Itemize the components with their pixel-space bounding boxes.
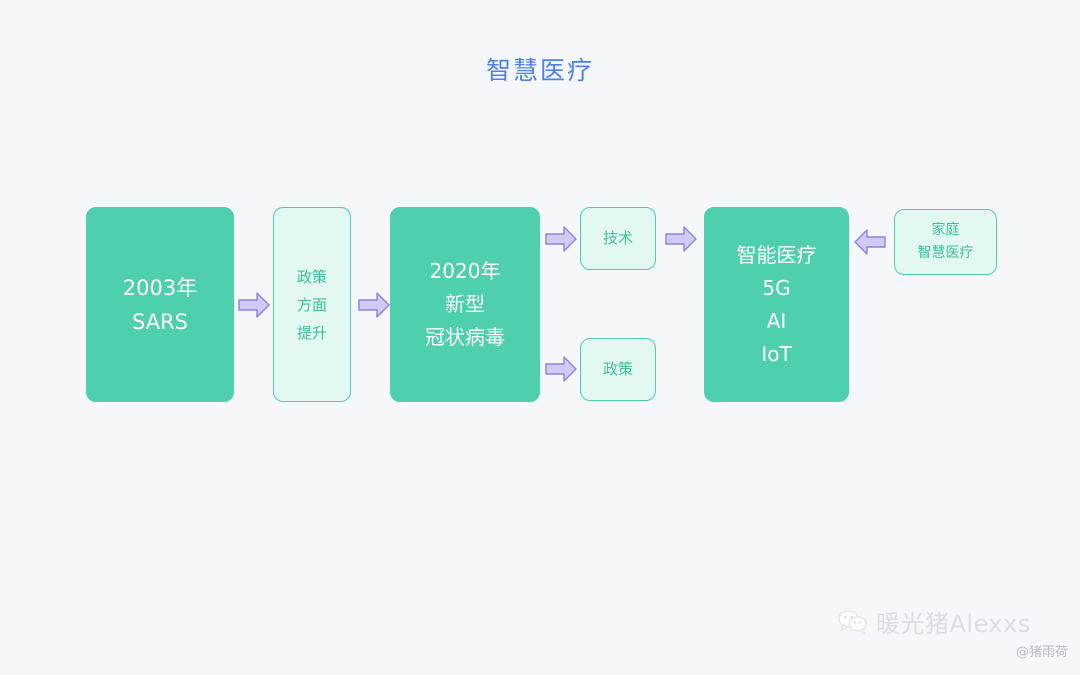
node-home-smart-medical-line-2: 智慧医疗	[918, 242, 974, 265]
node-smart-medical-line-3: AI	[767, 305, 787, 338]
node-smart-medical[interactable]: 智能医疗 5G AI IoT	[704, 207, 849, 402]
node-technology-label: 技术	[603, 228, 633, 249]
node-policy-improvement[interactable]: 政策 方面 提升	[273, 207, 351, 402]
node-smart-medical-line-4: IoT	[761, 338, 791, 371]
node-policy-improvement-line-3: 提升	[297, 319, 327, 347]
arrow-right-icon	[544, 355, 578, 383]
arrow-right-icon	[237, 291, 271, 319]
node-covid[interactable]: 2020年 新型 冠状病毒	[390, 207, 540, 402]
watermark-name: 暖光猪Alexxs	[876, 604, 1031, 639]
slide-canvas: 智慧医疗 2003年 SARS 政策 方面 提升 2020年 新型 冠状病毒 技…	[0, 0, 1080, 675]
arrow-left-icon	[853, 228, 887, 256]
node-smart-medical-line-2: 5G	[762, 272, 790, 305]
node-covid-line-2: 新型	[445, 288, 485, 321]
node-home-smart-medical-line-1: 家庭	[932, 219, 960, 242]
node-technology[interactable]: 技术	[580, 207, 656, 270]
arrow-right-icon	[664, 225, 698, 253]
node-policy-improvement-line-1: 政策	[297, 263, 327, 291]
page-title: 智慧医疗	[0, 54, 1080, 88]
wechat-icon	[838, 609, 868, 635]
node-policy[interactable]: 政策	[580, 338, 656, 401]
node-sars-line-2: SARS	[132, 305, 188, 339]
arrow-right-icon	[544, 225, 578, 253]
node-policy-improvement-line-2: 方面	[297, 291, 327, 319]
node-sars[interactable]: 2003年 SARS	[86, 207, 234, 402]
watermark: 暖光猪Alexxs @猪雨荷	[838, 604, 1068, 666]
node-home-smart-medical[interactable]: 家庭 智慧医疗	[894, 209, 997, 275]
node-covid-line-1: 2020年	[430, 255, 501, 288]
node-policy-label: 政策	[603, 359, 633, 380]
node-smart-medical-line-1: 智能医疗	[737, 239, 817, 272]
node-covid-line-3: 冠状病毒	[425, 321, 505, 354]
arrow-right-icon	[357, 291, 391, 319]
node-sars-line-1: 2003年	[123, 271, 197, 305]
watermark-row: 暖光猪Alexxs	[838, 604, 1068, 639]
watermark-handle: @猪雨荷	[838, 641, 1068, 660]
